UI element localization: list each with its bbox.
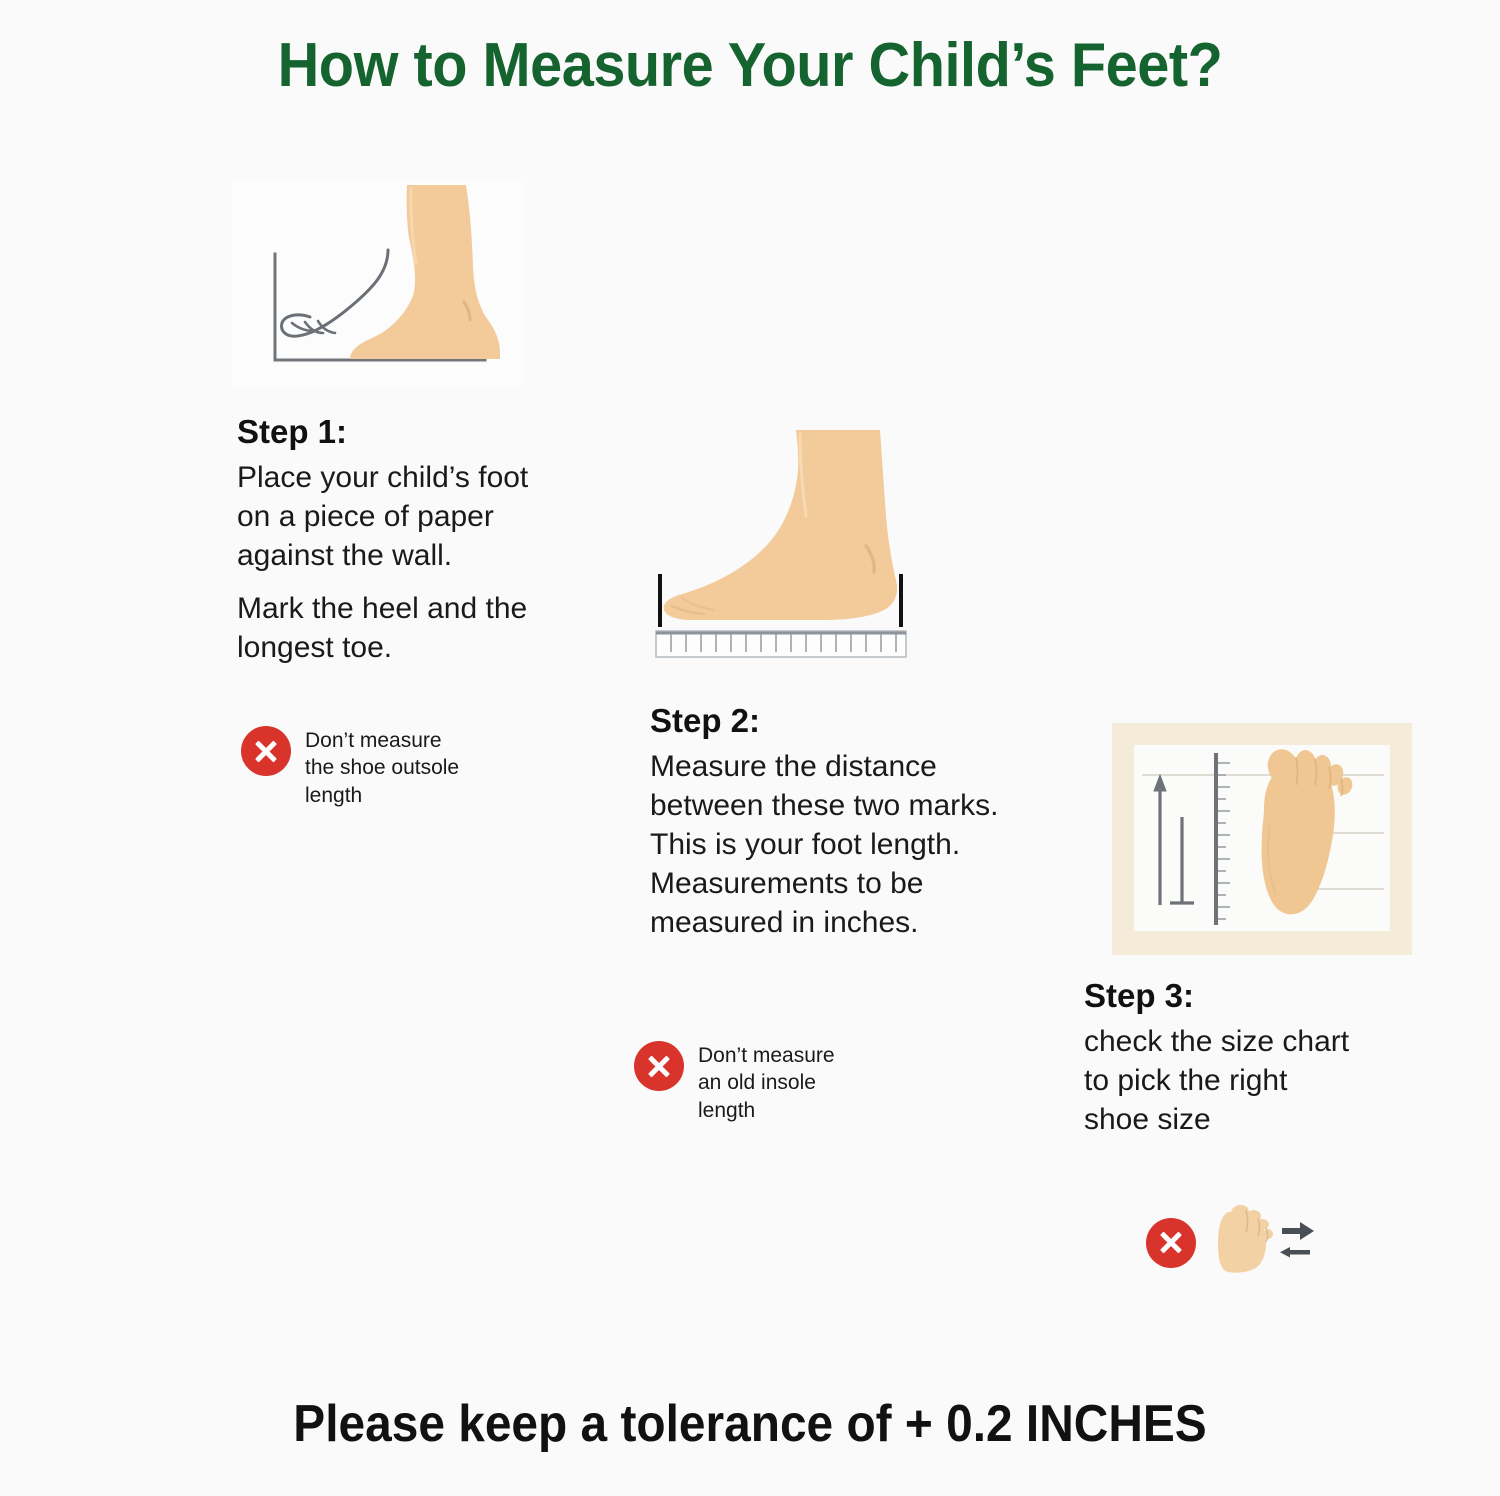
step3-heading: Step 3: (1084, 977, 1424, 1016)
red-x-icon (1146, 1218, 1196, 1268)
step3-illustration (1112, 723, 1412, 955)
step1-warning: Don’t measure the shoe outsole length (241, 726, 521, 809)
step3-warning (1146, 1204, 1366, 1281)
step2-illustration (648, 424, 938, 664)
foot-width-arrows-icon (1210, 1204, 1320, 1281)
tolerance-note: Please keep a tolerance of + 0.2 INCHES (60, 1394, 1440, 1454)
infographic-page: How to Measure Your Child’s Feet? Step 1… (0, 0, 1500, 1496)
red-x-icon (241, 726, 291, 776)
step2-warning-text: Don’t measure an old insole length (698, 1041, 835, 1124)
step3-text-block: Step 3: check the size chart to pick the… (1084, 977, 1424, 1139)
red-x-icon (634, 1041, 684, 1091)
step1-paragraph-1: Place your child’s foot on a piece of pa… (237, 458, 557, 575)
step1-illustration (232, 180, 524, 386)
step2-heading: Step 2: (650, 702, 1080, 741)
step1-heading: Step 1: (237, 413, 557, 452)
page-title: How to Measure Your Child’s Feet? (53, 30, 1448, 101)
step1-text-block: Step 1: Place your child’s foot on a pie… (237, 413, 557, 667)
step2-warning: Don’t measure an old insole length (634, 1041, 934, 1124)
step1-paragraph-2: Mark the heel and the longest toe. (237, 589, 557, 667)
step1-warning-text: Don’t measure the shoe outsole length (305, 726, 459, 809)
ruler (656, 631, 906, 657)
step2-text-block: Step 2: Measure the distance between the… (650, 702, 1080, 942)
step2-paragraph-1: Measure the distance between these two m… (650, 747, 1080, 942)
step3-paragraph-1: check the size chart to pick the right s… (1084, 1022, 1424, 1139)
